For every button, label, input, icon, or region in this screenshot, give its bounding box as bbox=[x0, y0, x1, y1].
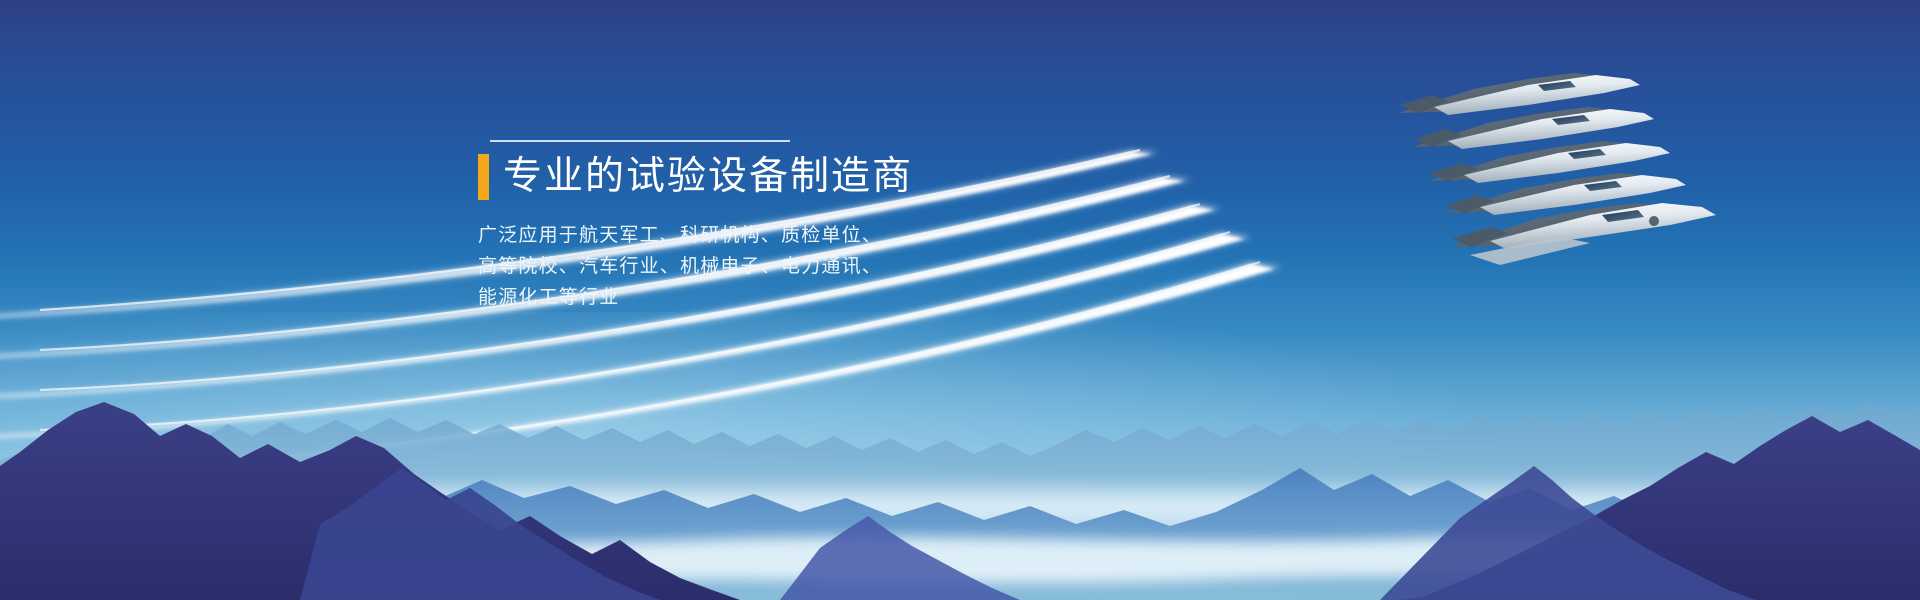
page-title: 专业的试验设备制造商 bbox=[503, 154, 913, 200]
headline-row: 专业的试验设备制造商 bbox=[478, 154, 958, 200]
headline-rule bbox=[490, 140, 790, 142]
sky-background bbox=[0, 0, 1920, 600]
banner-copy: 专业的试验设备制造商 广泛应用于航天军工、科研机构、质检单位、 高等院校、汽车行… bbox=[478, 140, 958, 313]
banner-subcopy: 广泛应用于航天军工、科研机构、质检单位、 高等院校、汽车行业、机械电子、电力通讯… bbox=[478, 220, 958, 313]
subcopy-line-1: 广泛应用于航天军工、科研机构、质检单位、 bbox=[478, 220, 958, 251]
subcopy-line-2: 高等院校、汽车行业、机械电子、电力通讯、 bbox=[478, 251, 958, 282]
accent-bar-icon bbox=[478, 154, 489, 200]
subcopy-line-3: 能源化工等行业 bbox=[478, 282, 958, 313]
hero-banner: 专业的试验设备制造商 广泛应用于航天军工、科研机构、质检单位、 高等院校、汽车行… bbox=[0, 0, 1920, 600]
